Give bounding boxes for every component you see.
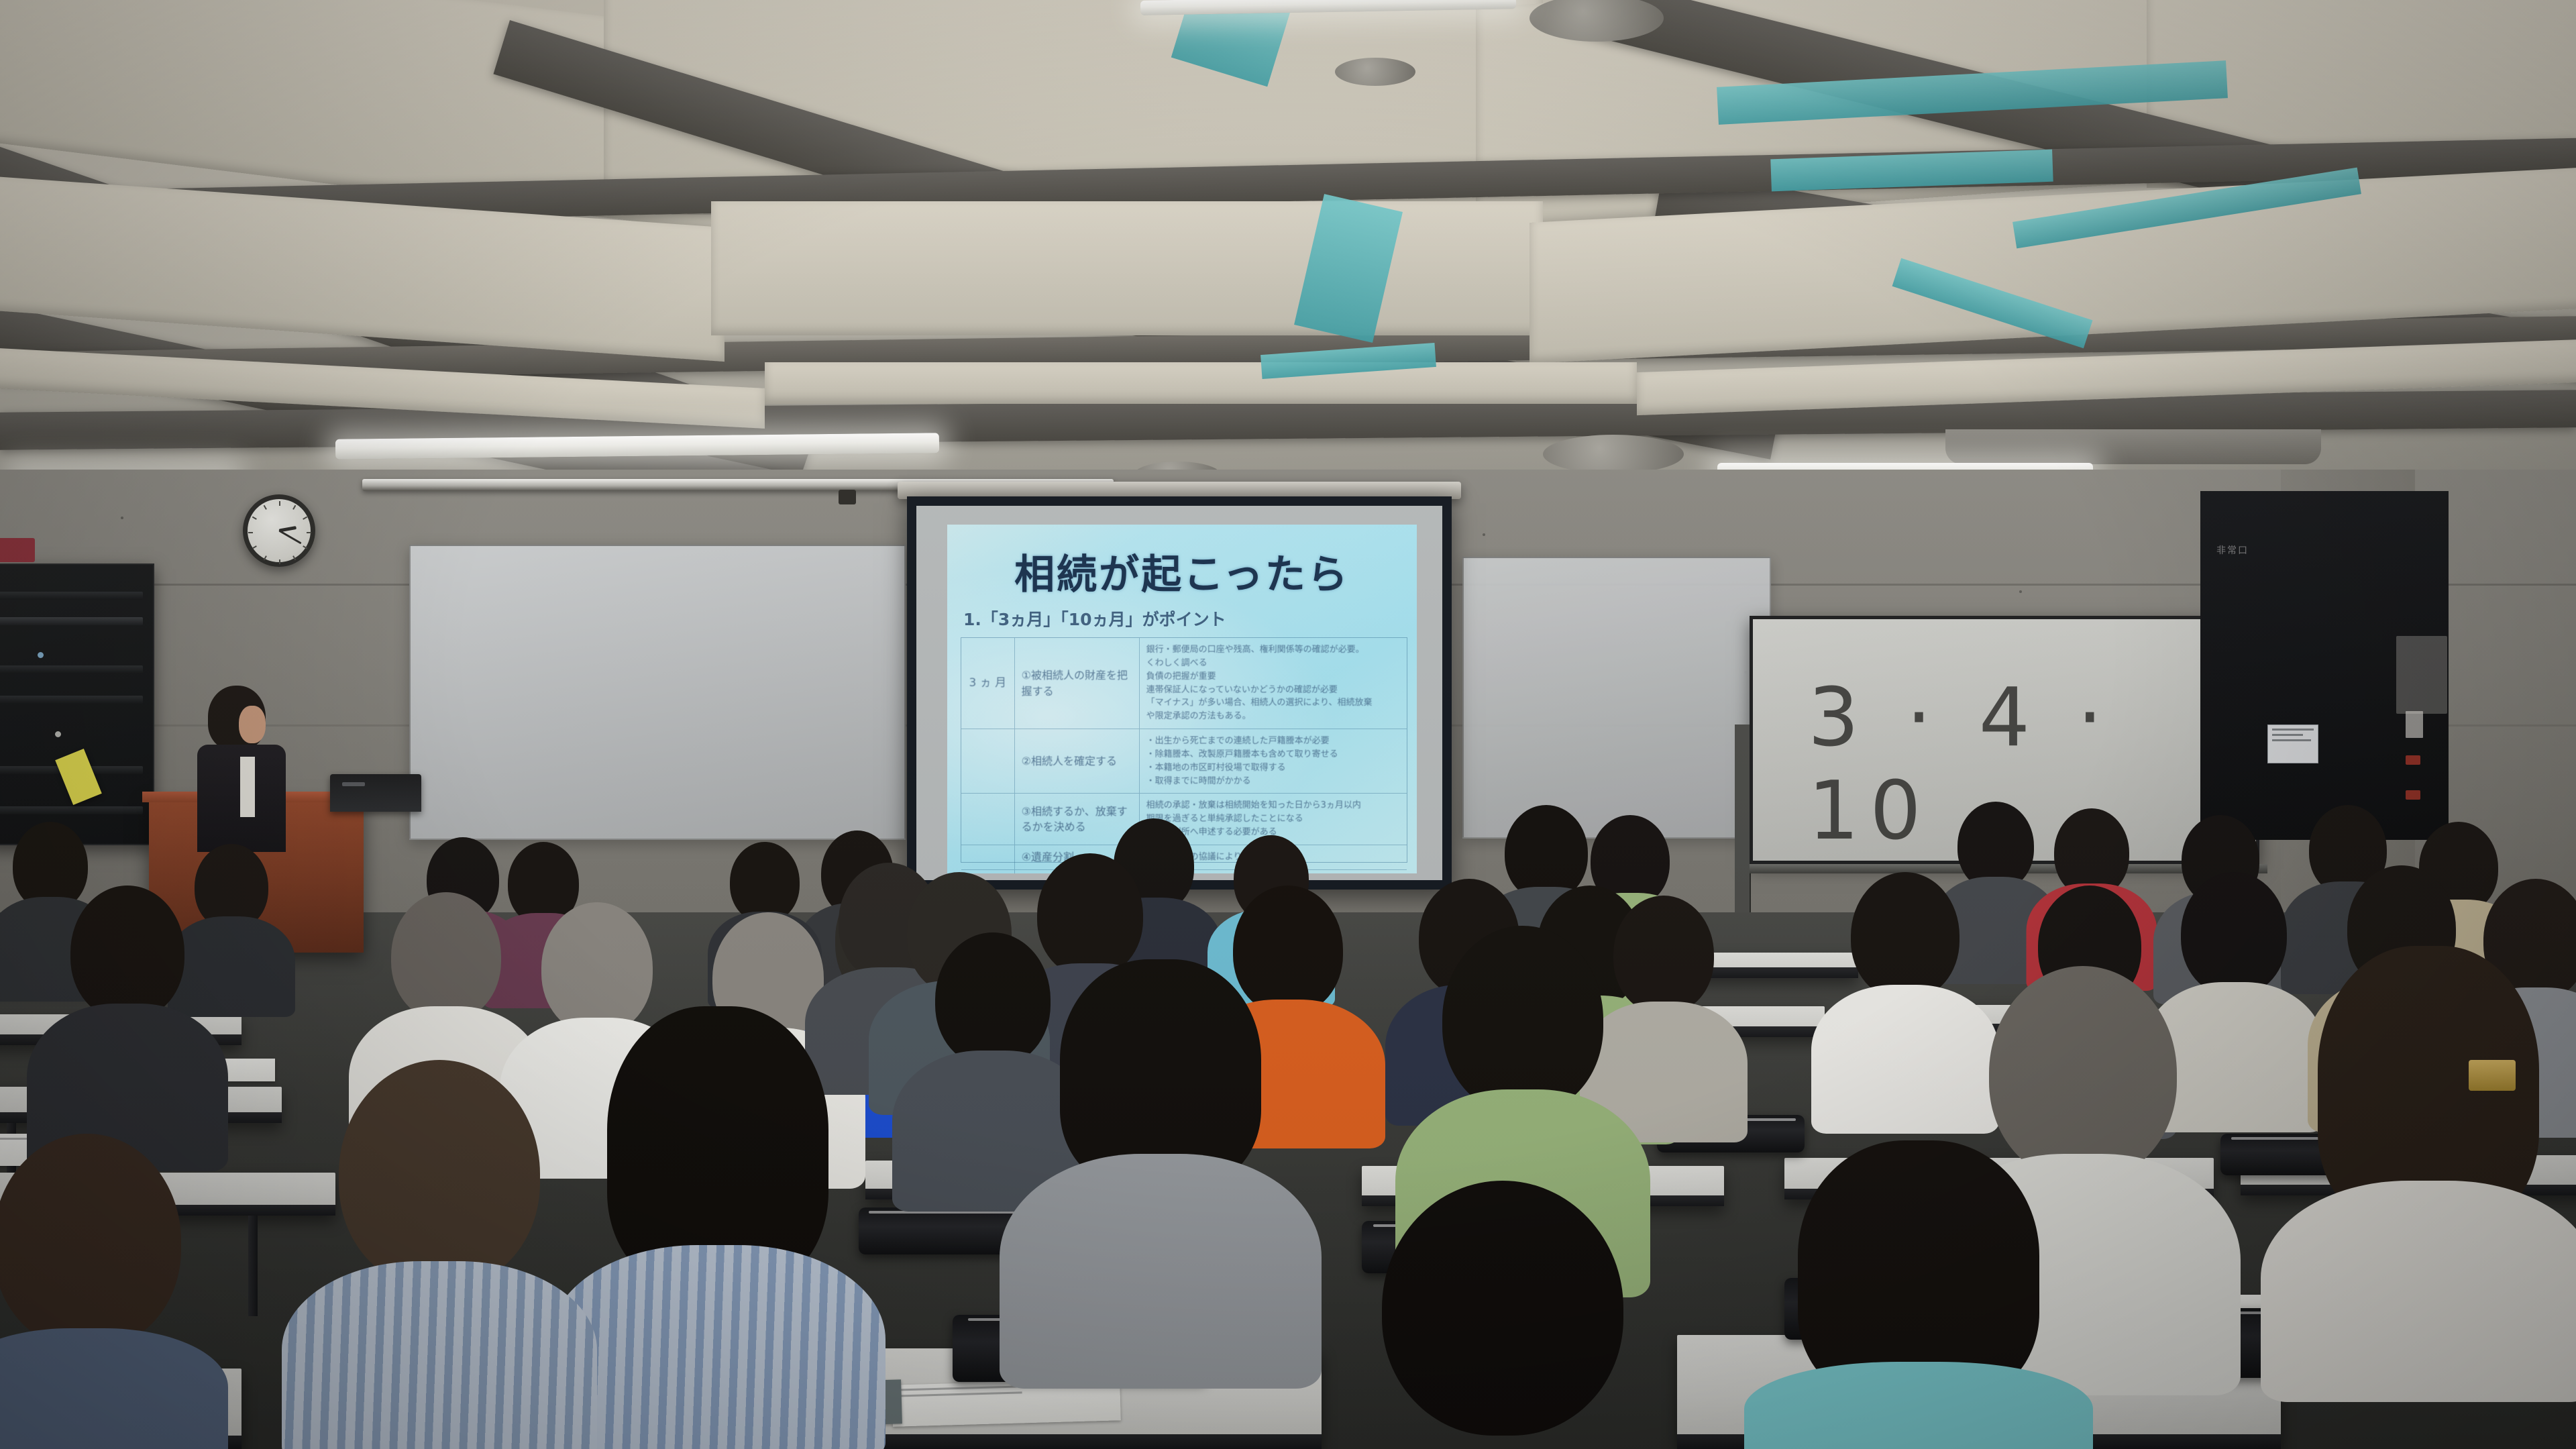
attendee [1000, 959, 1322, 1375]
slide-title: 相続が起こったら [947, 542, 1417, 600]
ceiling [0, 0, 2576, 510]
cell-period: 3 ヵ 月 [969, 675, 1007, 692]
cell-task: ②相続人を確定する [1022, 753, 1117, 769]
ceiling-spotlight [1543, 435, 1684, 474]
status-led [2406, 755, 2420, 765]
exit-label: 非常口 [2216, 543, 2249, 557]
cell-detail: ・出生から死亡までの連続した戸籍謄本が必要 ・除籍謄本、改製原戸籍謄本も含めて取… [1146, 736, 1338, 786]
presenter-laptop[interactable] [330, 774, 421, 812]
wall-clock [243, 494, 315, 567]
attendee [282, 1060, 597, 1449]
table-row: ②相続人を確定する ・出生から死亡までの連続した戸籍謄本が必要 ・除籍謄本、改製… [961, 729, 1407, 794]
clock-minute-hand [278, 530, 301, 545]
slide-subtitle: 1.「3ヵ月」「10ヵ月」がポイント [963, 606, 1226, 631]
status-led [2406, 790, 2420, 800]
presenter [205, 686, 286, 847]
attendee [2261, 946, 2576, 1389]
attendee [1744, 1140, 2093, 1449]
ceiling-spotlight [1335, 58, 1415, 86]
light-switch-plate[interactable] [2396, 636, 2447, 714]
seminar-room-photo: 相続が起こったら 1.「3ヵ月」「10ヵ月」がポイント 3 ヵ 月 ①被相続人の… [0, 0, 2576, 1449]
attendee [550, 1006, 885, 1449]
cell-task: ①被相続人の財産を把握する [1022, 667, 1132, 698]
hair-clip [2469, 1060, 2516, 1091]
light-switch-toggle[interactable] [2406, 711, 2423, 738]
rack-top-object [0, 538, 35, 562]
left-wall-panel [409, 545, 906, 840]
rail-clip [839, 490, 856, 504]
attendee [0, 1134, 228, 1449]
door-sign [2267, 724, 2318, 763]
cell-detail: 銀行・郵便局の口座や残高、権利関係等の確認が必要。 くわしく調べる 負債の把握が… [1146, 645, 1373, 721]
attendee [1315, 1181, 1690, 1449]
attendee [27, 885, 228, 1167]
left-wall-panel-far [1462, 557, 1771, 839]
table-row: 3 ヵ 月 ①被相続人の財産を把握する 銀行・郵便局の口座や残高、権利関係等の確… [961, 638, 1407, 729]
